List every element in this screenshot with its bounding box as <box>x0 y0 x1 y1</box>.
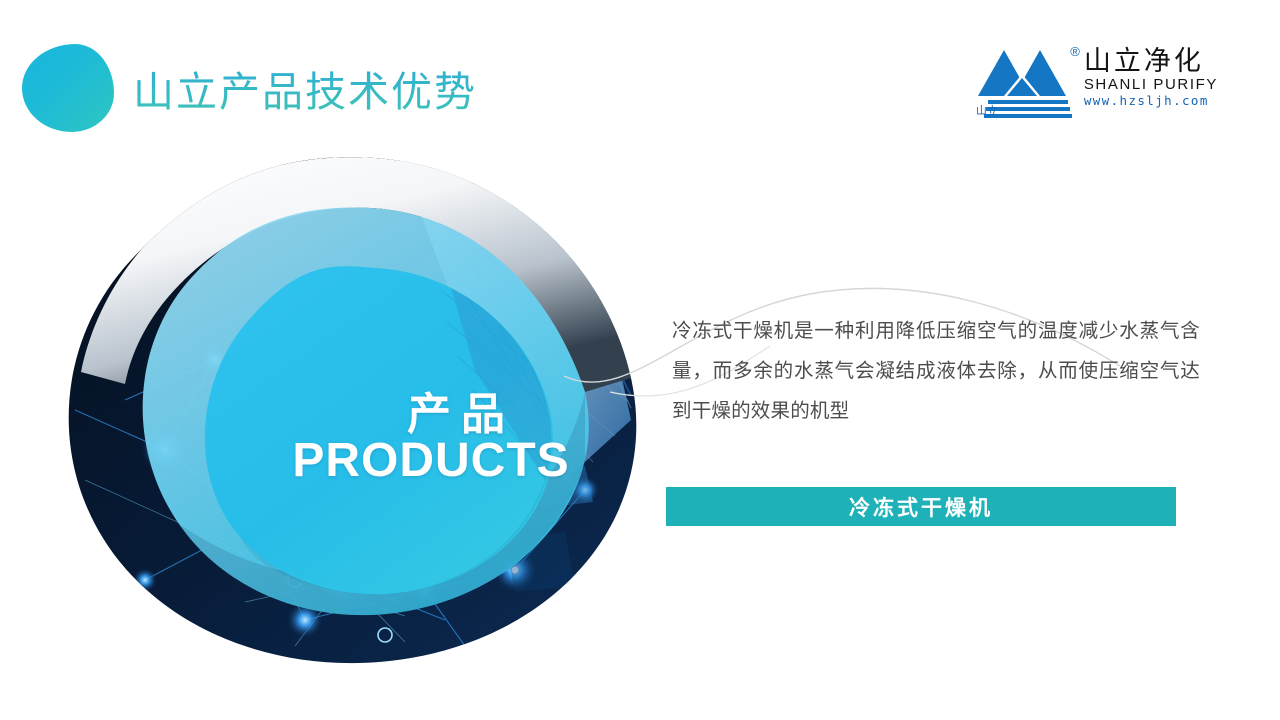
page-title: 山立产品技术优势 <box>133 58 477 118</box>
artwork-graphic <box>45 150 665 670</box>
slide-root: 山立产品技术优势 山立 ® 山立净化 SHANLI PURIFY www.hzs… <box>0 0 1280 720</box>
logo-text-block: 山立净化 SHANLI PURIFY www.hzsljh.com <box>1084 44 1218 109</box>
company-logo: 山立 ® 山立净化 SHANLI PURIFY www.hzsljh.com <box>974 44 1218 126</box>
description-paragraph: 冷冻式干燥机是一种利用降低压缩空气的温度减少水蒸气含量，而多余的水蒸气会凝结成液… <box>672 311 1200 431</box>
logo-website-url: www.hzsljh.com <box>1084 93 1218 109</box>
shanli-mountain-logo-icon: 山立 ® <box>974 44 1082 126</box>
logo-company-name-cn: 山立净化 <box>1084 48 1218 76</box>
logo-mark-caption: 山立 <box>976 102 998 118</box>
logo-company-name-en: SHANLI PURIFY <box>1084 76 1218 93</box>
products-artwork: 产品 PRODUCTS <box>45 150 665 670</box>
header-decorative-blob <box>22 44 114 132</box>
registered-trademark-icon: ® <box>1070 44 1080 59</box>
product-name-banner: 冷冻式干燥机 <box>666 487 1176 526</box>
product-name-label: 冷冻式干燥机 <box>849 492 993 522</box>
